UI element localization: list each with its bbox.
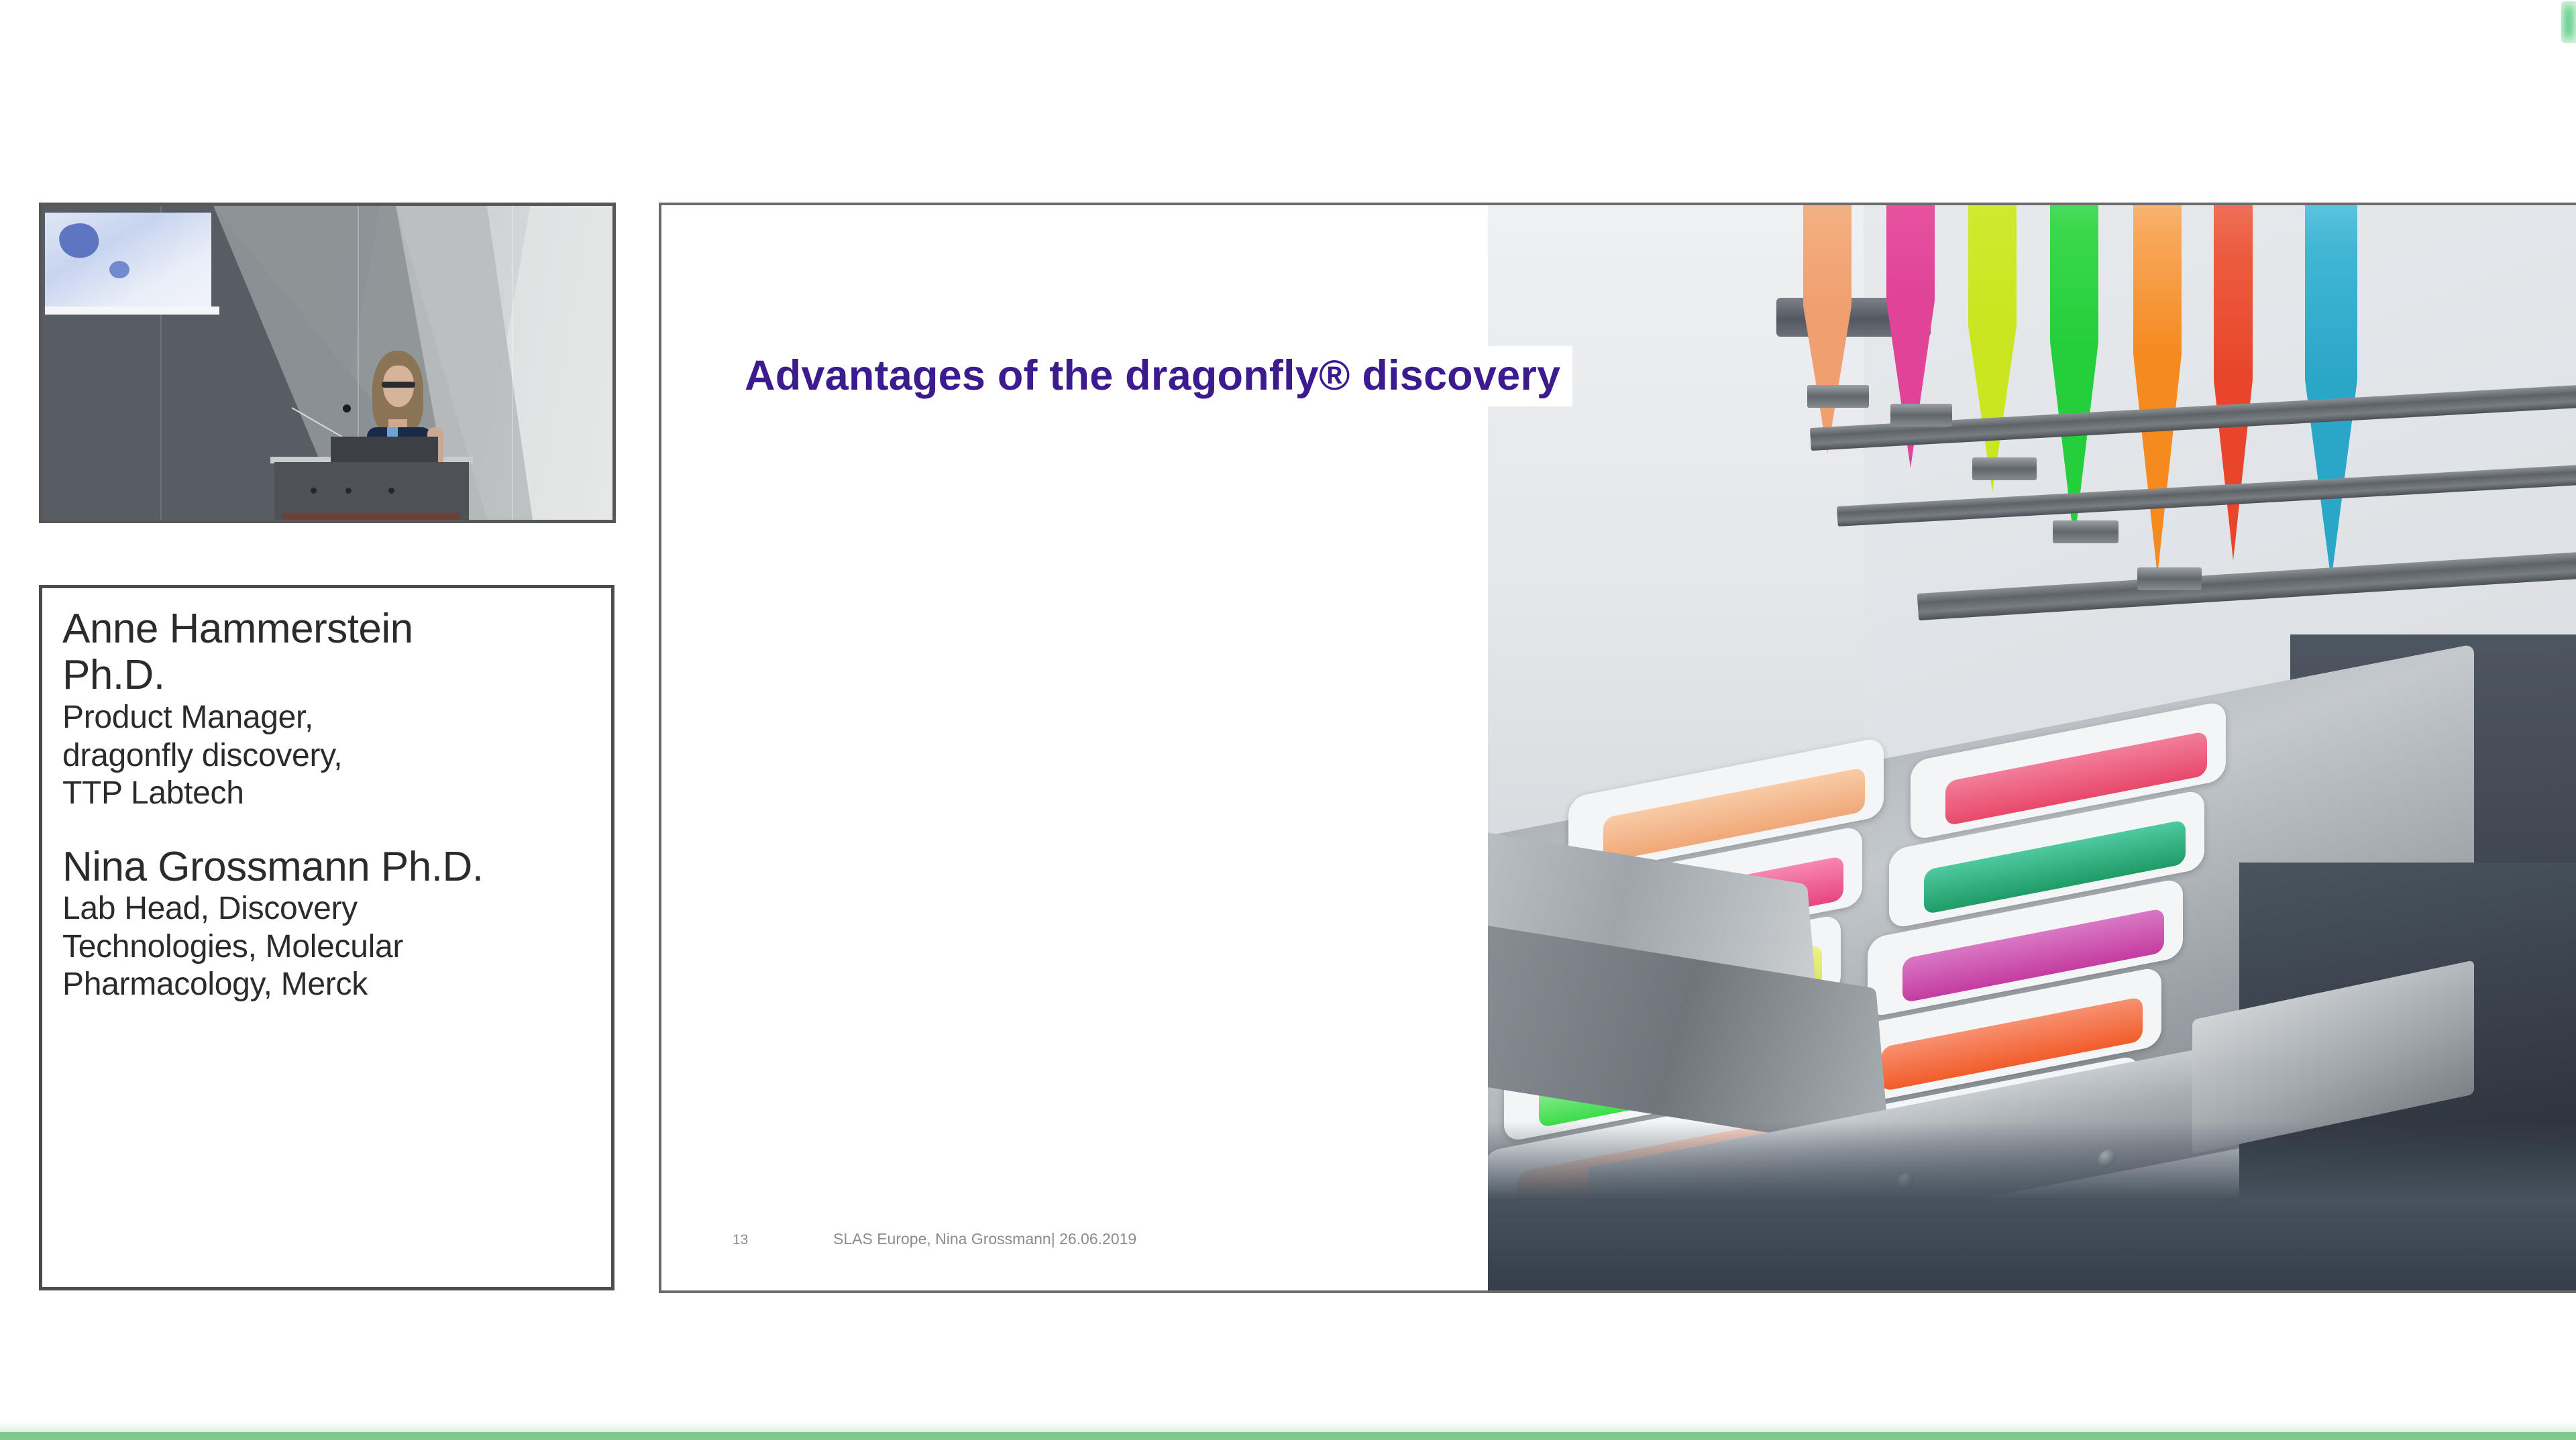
speaker-1-affiliation-line: Product Manager, <box>62 699 591 737</box>
speaker-2-name-text: Nina Grossmann Ph.D. <box>62 844 483 890</box>
pipette-tip-red <box>2214 205 2253 561</box>
speaker-1-affiliation-line: dragonfly discovery, <box>62 737 591 775</box>
dispenser-gantry-bar <box>1917 552 2576 620</box>
page-title: Advantages of the dragonfly® discovery <box>745 351 1560 400</box>
photo-foreground-shadow <box>1488 1121 2576 1293</box>
tip-clamp <box>1807 385 1869 408</box>
green-status-tab[interactable] <box>2561 1 2576 43</box>
tip-clamp <box>1972 457 2037 480</box>
speaker-video-thumbnail[interactable] <box>39 203 616 523</box>
projection-screen <box>45 213 211 311</box>
microphone-head <box>343 404 351 412</box>
tip-clamp <box>1890 404 1952 427</box>
pipette-tip-orange <box>2133 205 2182 575</box>
bio-spacer <box>62 813 591 844</box>
slide-footer: 13 SLAS Europe, Nina Grossmann| 26.06.20… <box>733 1230 1136 1248</box>
speaker-1-affiliation: Product Manager, dragonfly discovery, TT… <box>62 699 591 813</box>
slide-title-box: Advantages of the dragonfly® discovery <box>741 346 1572 406</box>
podium-base <box>282 513 460 523</box>
pipette-tip-blue <box>2305 205 2357 581</box>
bottom-green-bar <box>0 1432 2576 1440</box>
dragonfly-discovery-dispenser-photo <box>1488 205 2576 1293</box>
tip-clamp <box>2137 567 2202 590</box>
speaker-2-affiliation: Lab Head, Discovery Technologies, Molecu… <box>62 890 591 1004</box>
dispenser-gantry-bar <box>1837 465 2576 527</box>
projection-screen-graphic <box>109 261 129 278</box>
presentation-slide[interactable]: Advantages of the dragonfly® discovery 1… <box>659 203 2576 1293</box>
bottom-bar-fade <box>0 1423 2576 1432</box>
speaker-2-name: Nina Grossmann Ph.D. <box>62 844 591 890</box>
speaker-1-name-text: Anne Hammerstein <box>62 606 413 652</box>
speaker-2-affiliation-line: Pharmacology, Merck <box>62 966 591 1004</box>
projection-screen-bottom-bar <box>45 307 219 315</box>
pipette-tip-yellow-green <box>1968 205 2017 492</box>
tip-clamp <box>2053 520 2118 543</box>
speaker-bio-panel: Anne Hammerstein Ph.D. Product Manager, … <box>39 585 614 1290</box>
speaker-1-affiliation-line: TTP Labtech <box>62 775 591 813</box>
speaker-1-credential: Ph.D. <box>62 652 165 698</box>
slide-page-number: 13 <box>733 1232 833 1248</box>
podium-knob <box>388 488 394 494</box>
speaker-2-affiliation-line: Technologies, Molecular <box>62 928 591 966</box>
podium-knob <box>311 488 317 494</box>
speaker-1-name: Anne Hammerstein Ph.D. <box>62 606 591 699</box>
podium-knob <box>345 488 352 494</box>
pipette-tip-peach <box>1803 205 1851 453</box>
podium-laptop <box>331 437 438 462</box>
wall-seam-line <box>512 206 513 520</box>
speaker-2-affiliation-line: Lab Head, Discovery <box>62 890 591 928</box>
slide-footer-text: SLAS Europe, Nina Grossmann| 26.06.2019 <box>833 1230 1136 1248</box>
projection-screen-graphic <box>56 220 102 262</box>
speaker-glasses <box>382 382 415 388</box>
